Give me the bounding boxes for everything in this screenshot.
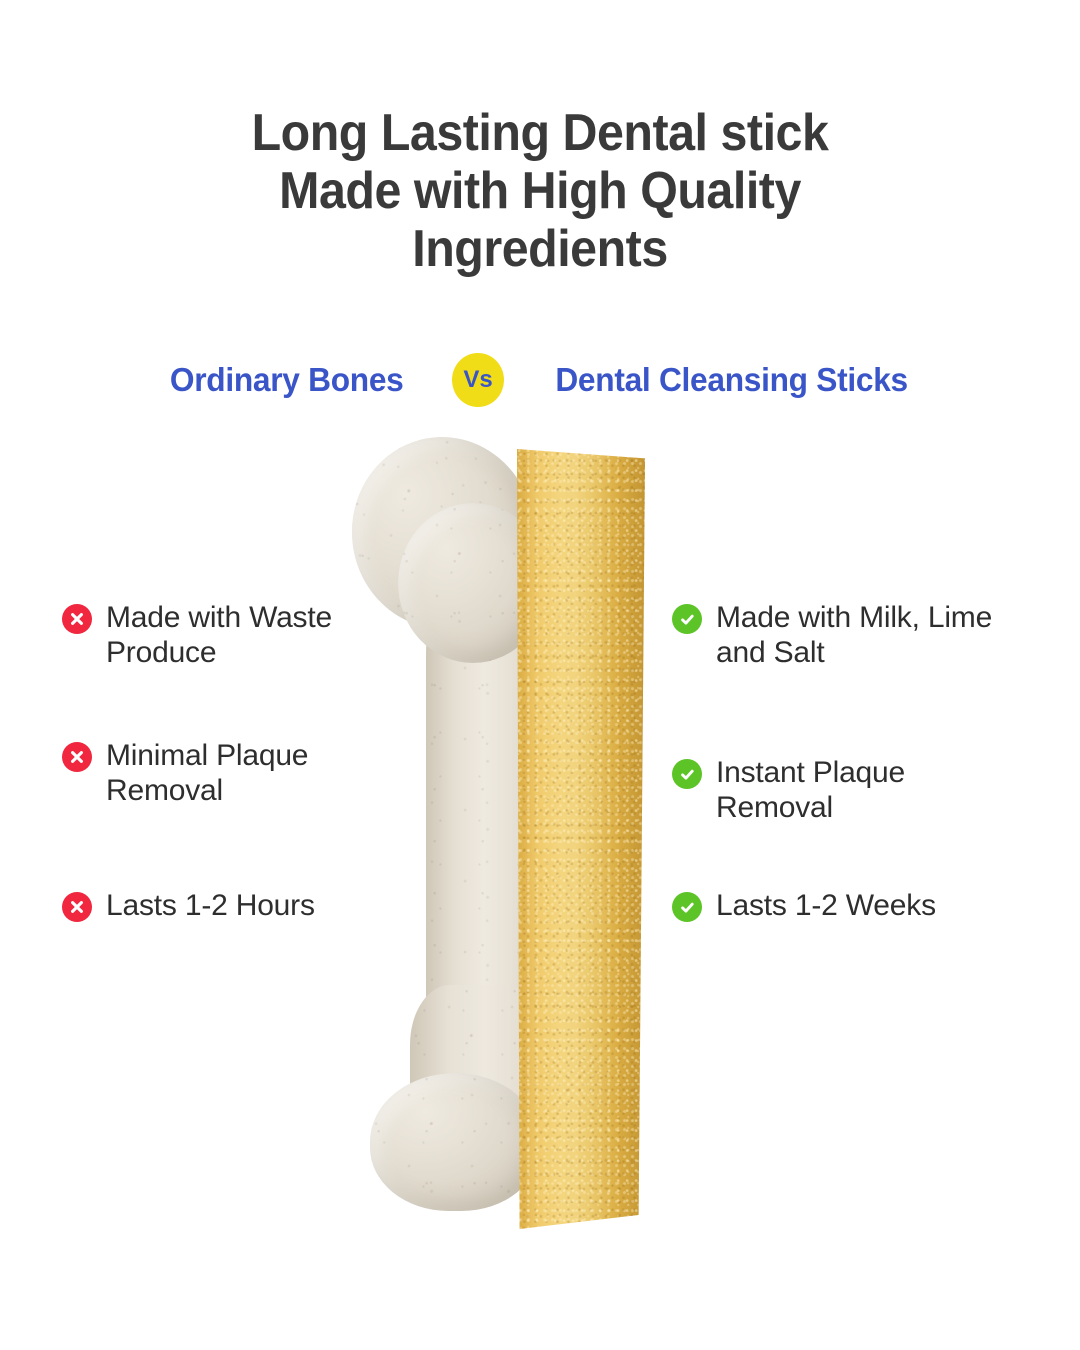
comparison-header: Ordinary Bones Vs Dental Cleansing Stick… (0, 352, 1080, 408)
page-title: Long Lasting Dental stick Made with High… (38, 104, 1042, 278)
column-heading-ordinary-bones: Ordinary Bones (170, 361, 404, 399)
circle-check-icon (672, 892, 702, 922)
feature-item: Lasts 1-2 Hours (62, 888, 392, 923)
circle-x-icon (62, 892, 92, 922)
page-title-line-2: Made with High Quality (38, 162, 1042, 220)
dental-stick-grain-texture (517, 449, 645, 1229)
circle-check-icon (672, 759, 702, 789)
page-title-line-3: Ingredients (38, 220, 1042, 278)
feature-label: Made with Milk, Lime and Salt (716, 600, 1002, 670)
page-title-line-1: Long Lasting Dental stick (38, 104, 1042, 162)
product-comparison-image (340, 425, 670, 1225)
feature-item: Instant Plaque Removal (672, 755, 1002, 825)
feature-label: Made with Waste Produce (106, 600, 392, 670)
dental-stick-image (517, 449, 645, 1229)
circle-x-icon (62, 742, 92, 772)
feature-item: Made with Waste Produce (62, 600, 392, 670)
versus-badge: Vs (452, 353, 504, 407)
circle-check-icon (672, 604, 702, 634)
feature-item: Minimal Plaque Removal (62, 738, 392, 808)
feature-label: Lasts 1-2 Hours (106, 888, 315, 923)
feature-label: Lasts 1-2 Weeks (716, 888, 936, 923)
bone-texture-overlay (370, 1073, 540, 1211)
feature-label: Minimal Plaque Removal (106, 738, 392, 808)
feature-item: Made with Milk, Lime and Salt (672, 600, 1002, 670)
feature-label: Instant Plaque Removal (716, 755, 1002, 825)
circle-x-icon (62, 604, 92, 634)
bone-bottom-knob (370, 1073, 540, 1211)
feature-item: Lasts 1-2 Weeks (672, 888, 1002, 923)
column-heading-dental-sticks: Dental Cleansing Sticks (555, 361, 908, 399)
dental-stick-shading (517, 449, 645, 1229)
